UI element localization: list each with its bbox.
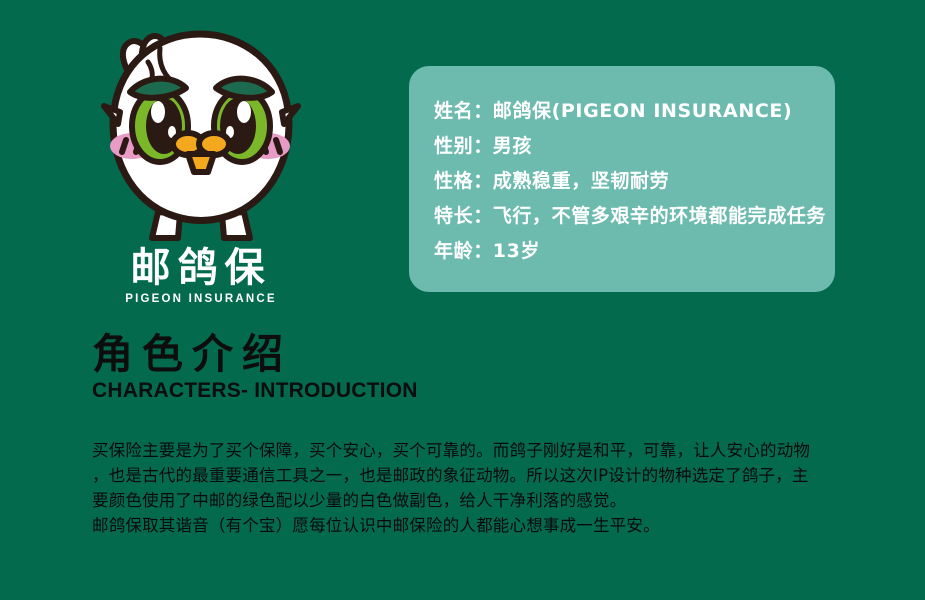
info-row-age: 年龄：13岁 — [434, 234, 835, 269]
info-row-specialty: 特长：飞行，不管多艰辛的环境都能完成任务 — [434, 199, 835, 234]
logo-wordmark: 邮鸽保 PIGEON INSURANCE — [96, 248, 306, 305]
page-title-cn: 角色介绍 — [92, 332, 792, 376]
character-info-card: 姓名：邮鸽保(PIGEON INSURANCE) 性别：男孩 性格：成熟稳重，坚… — [409, 66, 835, 292]
description-line: 邮鸽保取其谐音（有个宝）愿每位认识中邮保险的人都能心想事成一生平安。 — [92, 513, 844, 538]
pigeon-mascot-icon — [96, 26, 306, 244]
description-line: 要颜色使用了中邮的绿色配以少量的白色做副色，给人干净利落的感觉。 — [92, 488, 844, 513]
info-row-name: 姓名：邮鸽保(PIGEON INSURANCE) — [434, 94, 835, 129]
page-title-en: CHARACTERS- INTRODUCTION — [92, 379, 792, 403]
brand-logo-block: 邮鸽保 PIGEON INSURANCE — [96, 26, 306, 306]
description-line: 买保险主要是为了买个保障，买个安心，买个可靠的。而鸽子刚好是和平，可靠，让人安心… — [92, 438, 844, 463]
description-paragraph: 买保险主要是为了买个保障，买个安心，买个可靠的。而鸽子刚好是和平，可靠，让人安心… — [92, 438, 844, 538]
description-line: ，也是古代的最重要通信工具之一，也是邮政的象征动物。所以这次IP设计的物种选定了… — [92, 463, 844, 488]
logo-name-en: PIGEON INSURANCE — [96, 293, 306, 305]
info-row-personality: 性格：成熟稳重，坚韧耐劳 — [434, 164, 835, 199]
section-heading: 角色介绍 CHARACTERS- INTRODUCTION — [92, 332, 792, 403]
logo-name-cn: 邮鸽保 — [96, 248, 306, 289]
info-row-gender: 性别：男孩 — [434, 129, 835, 164]
